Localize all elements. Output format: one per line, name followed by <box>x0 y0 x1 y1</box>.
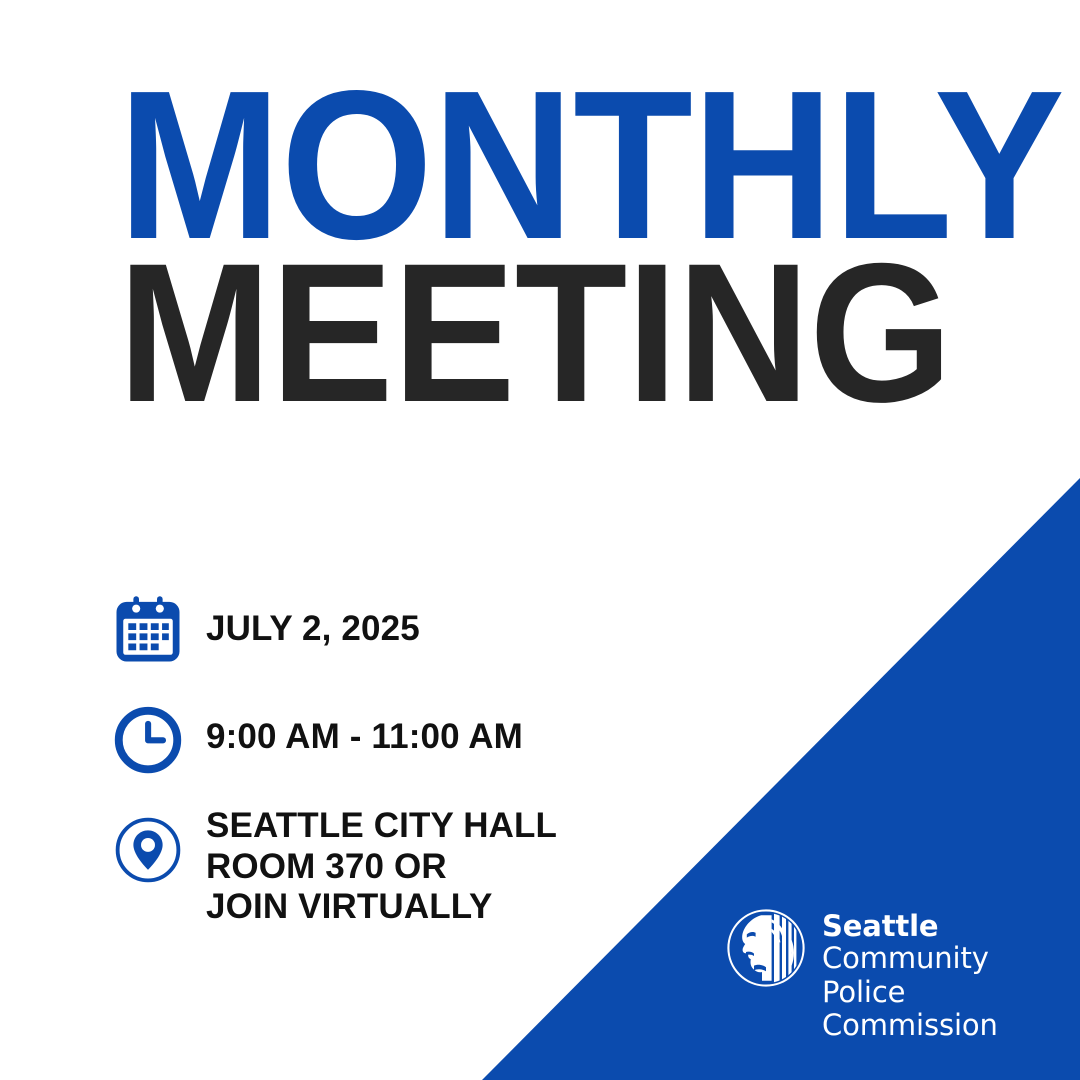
detail-text-time: 9:00 AM - 11:00 AM <box>192 696 724 756</box>
detail-row-time: 9:00 AM - 11:00 AM <box>104 696 724 784</box>
flyer-canvas: MONTHLY MEETING <box>0 0 1080 1080</box>
calendar-icon <box>104 586 192 674</box>
headline-line-meeting: MEETING <box>118 248 918 418</box>
organization-logo: Seattle Community Police Commission <box>726 908 1080 1042</box>
detail-row-date: JULY 2, 2025 <box>104 586 724 674</box>
detail-text-location: SEATTLE CITY HALL ROOM 370 OR JOIN VIRTU… <box>192 806 724 928</box>
headline: MONTHLY MEETING <box>118 74 978 419</box>
location-pin-icon <box>104 806 192 894</box>
detail-text-date: JULY 2, 2025 <box>192 586 724 648</box>
logo-word-community-police: Community Police <box>822 942 1080 1008</box>
logo-word-seattle: Seattle <box>822 910 1080 942</box>
detail-row-location: SEATTLE CITY HALL ROOM 370 OR JOIN VIRTU… <box>104 806 724 928</box>
logo-word-commission: Commission <box>822 1009 1080 1042</box>
event-details-list: JULY 2, 2025 9:00 AM - 11:00 AM <box>104 586 724 928</box>
seattle-city-seal-icon <box>726 908 806 988</box>
logo-wordmark: Seattle Community Police Commission <box>806 908 1080 1042</box>
clock-icon <box>104 696 192 784</box>
